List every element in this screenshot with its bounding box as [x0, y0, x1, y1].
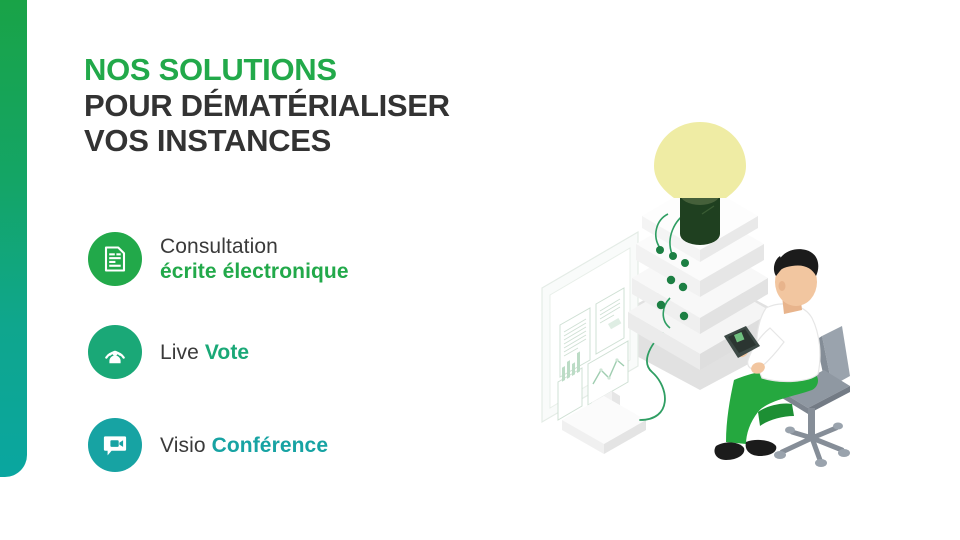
slide-canvas: NOS SOLUTIONS POUR DÉMATÉRIALISER VOS IN…	[0, 0, 960, 540]
feature-label-live-vote: Live Vote	[160, 340, 249, 365]
feature-label-regular: Visio	[160, 434, 212, 457]
feature-item-live-vote[interactable]: Live Vote	[88, 321, 349, 383]
feature-label-consultation: Consultation écrite électronique	[160, 234, 349, 284]
left-gradient-bar	[0, 0, 27, 477]
feature-label-regular: Live	[160, 341, 205, 364]
feature-list: Consultation écrite électronique Live Vo…	[88, 228, 349, 507]
feature-label-strong: écrite électronique	[160, 259, 349, 284]
feature-label-regular: Consultation	[160, 235, 278, 258]
feature-label-visio-conference: Visio Conférence	[160, 433, 328, 458]
document-lines-icon	[88, 232, 142, 286]
isometric-digital-meeting-scene	[520, 120, 960, 480]
video-chat-bubble-icon	[88, 418, 142, 472]
feature-item-consultation[interactable]: Consultation écrite électronique	[88, 228, 349, 290]
feature-label-strong: Vote	[205, 341, 249, 364]
broadcast-person-icon	[88, 325, 142, 379]
feature-label-strong: Conférence	[212, 434, 329, 457]
headline-line-2: POUR DÉMATÉRIALISER	[84, 88, 644, 124]
feature-item-visio-conference[interactable]: Visio Conférence	[88, 414, 349, 476]
headline-line-1: NOS SOLUTIONS	[84, 52, 644, 88]
